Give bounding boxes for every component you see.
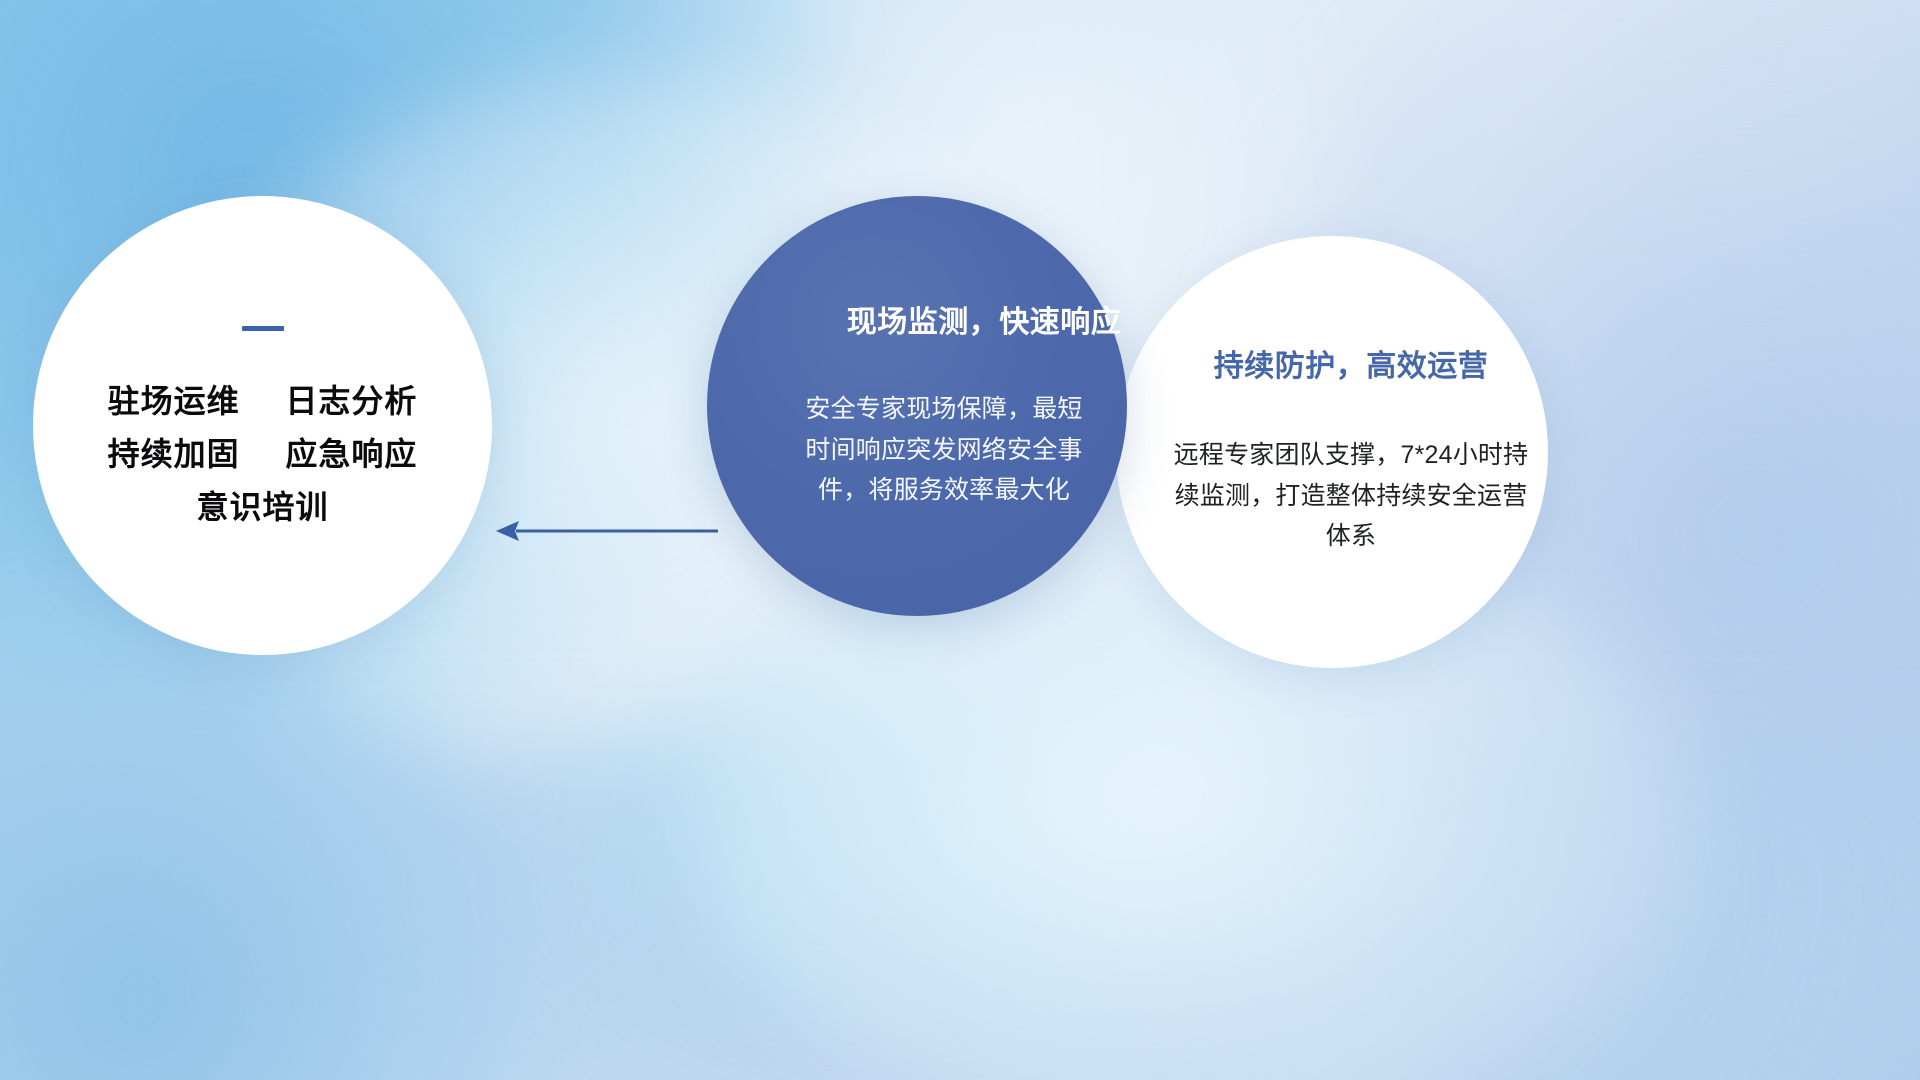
capability-item-yingji-xiangying: 应急响应 bbox=[285, 436, 417, 472]
capability-item-zhuchang-yunwei: 驻场运维 bbox=[108, 383, 240, 419]
capability-row-1: 驻场运维 日志分析 bbox=[108, 385, 418, 419]
left-circle-content: 驻场运维 日志分析 持续加固 应急响应 意识培训 bbox=[33, 196, 492, 655]
capability-item-rizhi-fenxi: 日志分析 bbox=[285, 383, 417, 419]
continuous-protection-circle[interactable]: 持续防护，高效运营 远程专家团队支撑，7*24小时持续监测，打造整体持续安全运营… bbox=[1116, 236, 1548, 668]
capability-list: 驻场运维 日志分析 持续加固 应急响应 意识培训 bbox=[108, 385, 418, 525]
capability-item-chixu-jiagu: 持续加固 bbox=[108, 436, 240, 472]
right-circle-body: 远程专家团队支撑，7*24小时持续监测，打造整体持续安全运营体系 bbox=[1172, 435, 1530, 557]
flow-arrow-icon bbox=[490, 515, 720, 547]
capability-row-3: 意识培训 bbox=[196, 491, 328, 525]
service-capability-circle[interactable]: 驻场运维 日志分析 持续加固 应急响应 意识培训 bbox=[33, 196, 492, 655]
mid-circle-content: 现场监测，快速响应 安全专家现场保障，最短时间响应突发网络安全事件，将服务效率最… bbox=[707, 196, 1127, 616]
mid-circle-body: 安全专家现场保障，最短时间响应突发网络安全事件，将服务效率最大化 bbox=[794, 389, 1094, 511]
diagram-stage: 驻场运维 日志分析 持续加固 应急响应 意识培训 持续防护，高效运营 远程专家团… bbox=[0, 0, 1920, 1080]
mid-circle-title: 现场监测，快速响应 bbox=[847, 297, 1122, 341]
capability-row-2: 持续加固 应急响应 bbox=[108, 438, 418, 472]
right-circle-content: 持续防护，高效运营 远程专家团队支撑，7*24小时持续监测，打造整体持续安全运营… bbox=[1116, 236, 1548, 668]
divider-dash bbox=[242, 326, 284, 331]
right-circle-title: 持续防护，高效运营 bbox=[1214, 341, 1489, 385]
onsite-monitoring-circle[interactable]: 现场监测，快速响应 安全专家现场保障，最短时间响应突发网络安全事件，将服务效率最… bbox=[707, 196, 1127, 616]
